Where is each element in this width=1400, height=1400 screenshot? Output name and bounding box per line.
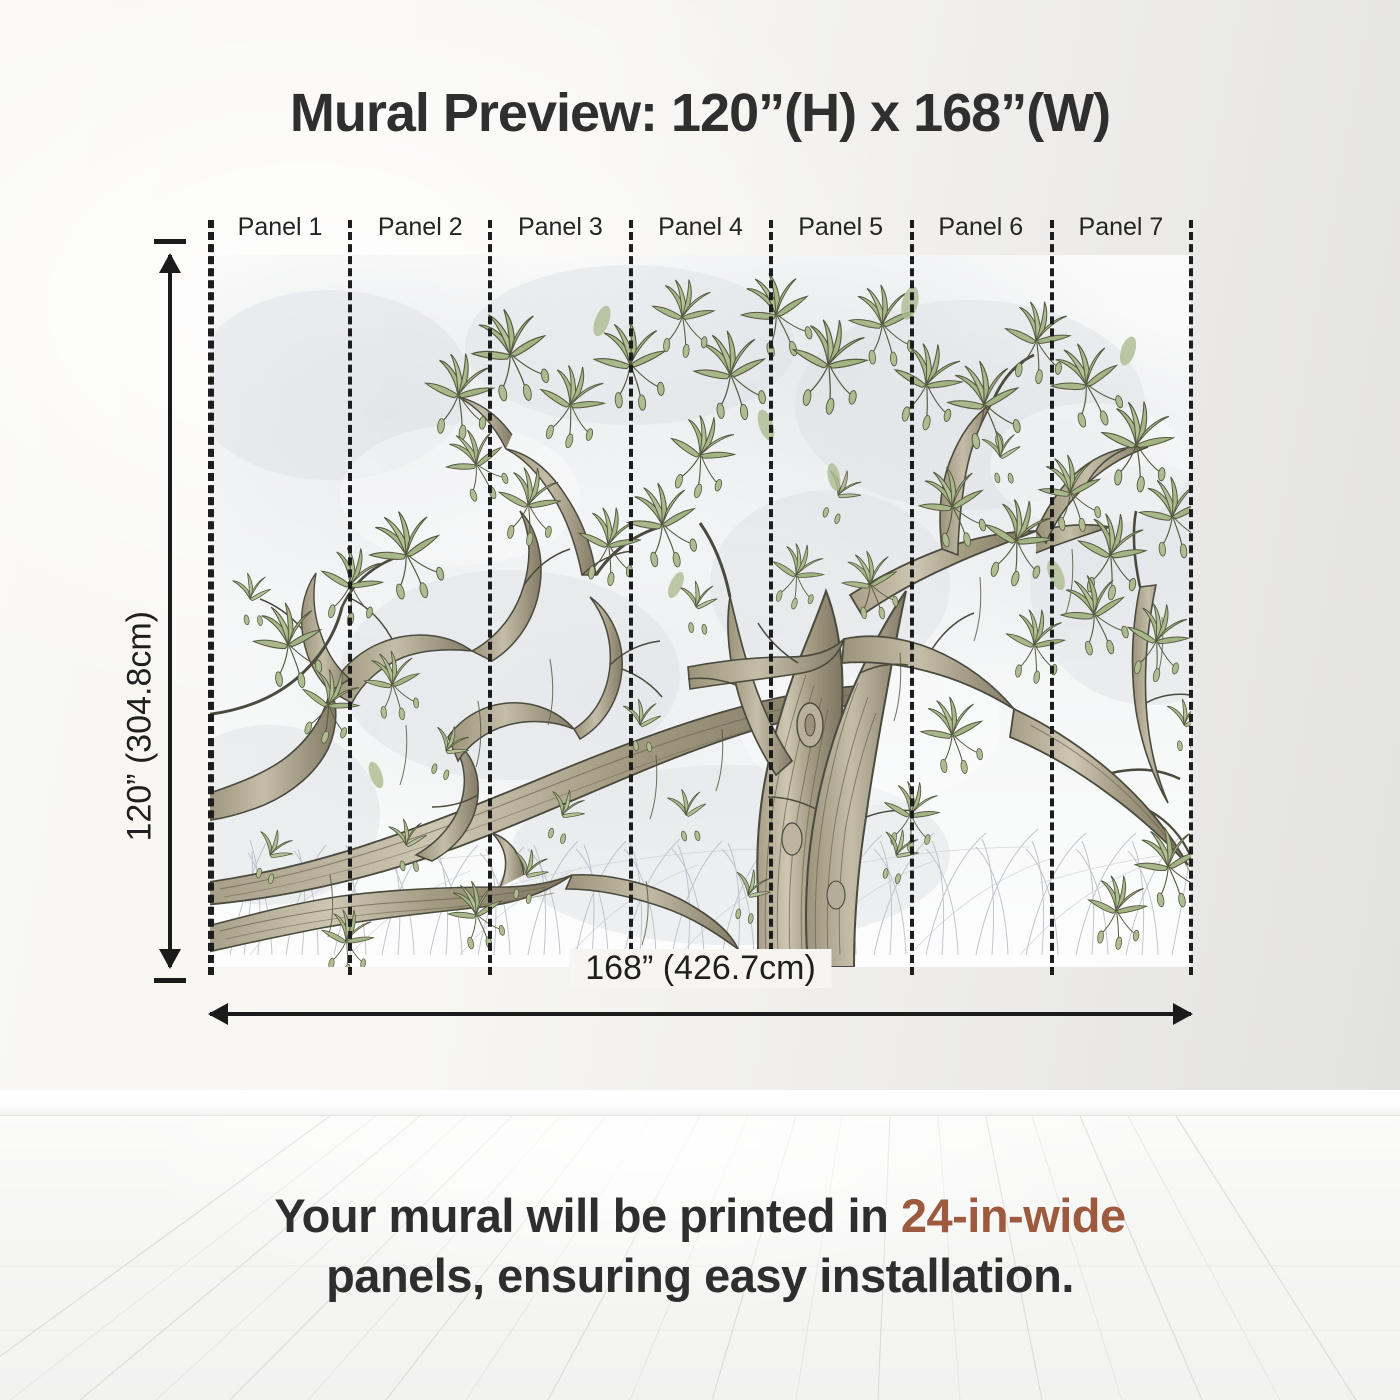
mural-preview[interactable]	[210, 255, 1191, 967]
height-dimension-label: 120” (304.8cm)	[121, 611, 160, 842]
caption: Your mural will be printed in 24-in-wide…	[0, 1186, 1400, 1306]
panel-divider	[1050, 220, 1054, 975]
panel-label-2: Panel 2	[350, 213, 490, 242]
panel-divider	[629, 220, 633, 975]
panel-divider	[1189, 220, 1193, 975]
panel-divider	[488, 220, 492, 975]
page-title: Mural Preview: 120”(H) x 168”(W)	[0, 82, 1400, 144]
width-arrow-right-icon	[1173, 1003, 1193, 1025]
panel-label-1: Panel 1	[210, 213, 350, 242]
width-dimension-label: 168” (426.7cm)	[569, 949, 832, 988]
mural-illustration	[210, 255, 1191, 967]
panel-label-7: Panel 7	[1051, 213, 1191, 242]
caption-line1-before: Your mural will be printed in	[274, 1189, 901, 1242]
panel-divider	[769, 220, 773, 975]
panel-label-5: Panel 5	[771, 213, 911, 242]
height-arrow-up-icon	[159, 253, 181, 273]
mural-artwork	[210, 255, 1191, 967]
panel-label-6: Panel 6	[911, 213, 1051, 242]
panel-divider	[210, 220, 214, 975]
panel-divider	[348, 220, 352, 975]
panel-label-row: Panel 1Panel 2Panel 3Panel 4Panel 5Panel…	[210, 213, 1191, 247]
height-tick-top	[154, 239, 186, 244]
caption-accent: 24-in-wide	[901, 1189, 1126, 1242]
panel-divider	[910, 220, 914, 975]
height-arrow-down-icon	[159, 949, 181, 969]
height-dimension-line: 120” (304.8cm)	[168, 255, 172, 967]
width-arrow-left-icon	[208, 1003, 228, 1025]
baseboard	[0, 1090, 1400, 1116]
panel-label-3: Panel 3	[490, 213, 630, 242]
caption-line2: panels, ensuring easy installation.	[326, 1249, 1074, 1302]
panel-label-4: Panel 4	[630, 213, 770, 242]
width-dimension-line: 168” (426.7cm)	[210, 1012, 1191, 1016]
height-tick-bottom	[154, 978, 186, 983]
